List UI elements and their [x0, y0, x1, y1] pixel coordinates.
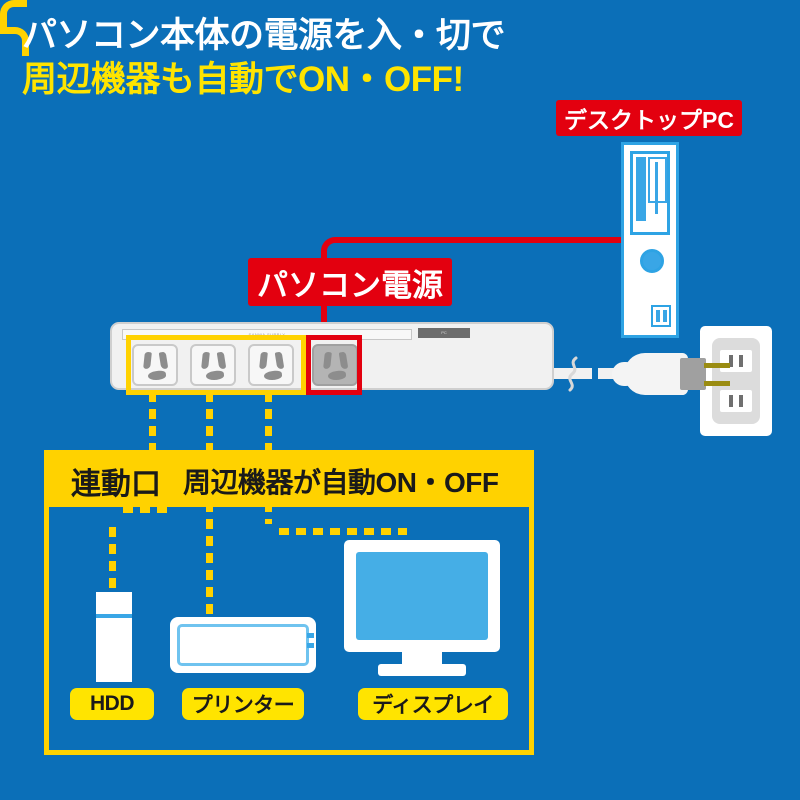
headline-line-1: パソコン本体の電源を入・切で [22, 14, 582, 58]
monitor-screen [356, 552, 488, 640]
plug-tip [680, 358, 706, 390]
printer-icon [170, 617, 316, 673]
linked-outlets-highlight-box [126, 335, 306, 395]
infographic-canvas: パソコン本体の電源を入・切で 周辺機器も自動でON・OFF! デスクトップPC … [0, 0, 800, 800]
panel-title: 連動口 [71, 459, 161, 503]
monitor-icon [344, 540, 500, 676]
dashed-line-outlet-3 [265, 392, 272, 456]
pc-bay-bar-center [655, 162, 658, 214]
hard-drive-cap-line [96, 614, 132, 618]
dashed-line-outlet-2 [206, 392, 213, 456]
power-strip-pc-port-label: PC [418, 328, 470, 338]
dashed-line-outlet-1 [149, 392, 156, 456]
plug-prong-top [704, 363, 730, 368]
pc-power-button-icon [640, 249, 664, 273]
pc-bay-bar-left [636, 157, 646, 221]
plug-prong-bottom [704, 381, 730, 386]
power-strip-pc-port-label-text: PC [418, 328, 470, 338]
dashed-route-hdd-vertical [109, 527, 116, 599]
dashed-route-display-vertical-top [265, 502, 272, 524]
pc-outlet-highlight-box [306, 335, 362, 395]
power-plug-body [624, 353, 688, 395]
printer-body-outline [177, 624, 309, 666]
pc-drive-bay-panel [630, 151, 670, 235]
headline-block: パソコン本体の電源を入・切で 周辺機器も自動でON・OFF! [22, 14, 582, 102]
headline-line-2: 周辺機器も自動でON・OFF! [22, 58, 582, 102]
dashed-route-display-horizontal [279, 528, 407, 535]
red-connector-horizontal [339, 237, 621, 243]
dashed-route-hdd-horizontal [123, 506, 171, 513]
desktop-pc-tower-icon [621, 142, 679, 338]
device-label-printer: プリンター [182, 688, 304, 720]
badge-pc-power: パソコン電源 [248, 258, 452, 306]
monitor-bezel [344, 540, 500, 652]
cord-break-squiggle-icon [562, 356, 584, 392]
badge-desktop-pc: デスクトップPC [556, 100, 742, 136]
wall-receptacle-top [720, 350, 752, 372]
monitor-stand-base [378, 664, 466, 676]
device-label-display: ディスプレイ [358, 688, 508, 720]
hard-drive-icon [96, 592, 132, 682]
pc-usb-ports-icon [651, 305, 671, 327]
device-label-hdd: HDD [70, 688, 154, 720]
linked-devices-panel-header: 連動口 周辺機器が自動ON・OFF [49, 455, 529, 507]
panel-subtitle: 周辺機器が自動ON・OFF [183, 461, 499, 501]
printer-indicator-bottom [307, 643, 314, 648]
printer-indicator-top [307, 633, 314, 638]
wall-receptacle-bottom [720, 390, 752, 412]
dashed-route-printer-vertical [206, 502, 213, 620]
